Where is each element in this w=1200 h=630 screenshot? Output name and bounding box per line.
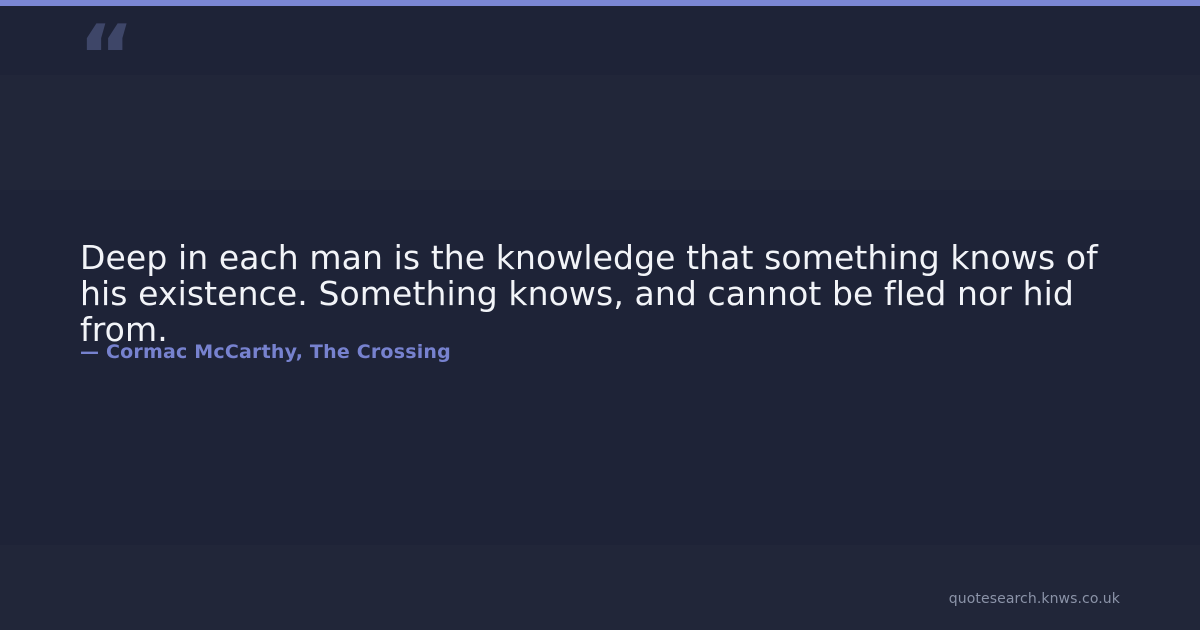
source-site-label: quotesearch.knws.co.uk [949, 590, 1120, 608]
top-accent-bar [0, 0, 1200, 6]
quote-attribution: — Cormac McCarthy, The Crossing [80, 339, 451, 365]
quote-text: Deep in each man is the knowledge that s… [80, 240, 1140, 348]
quotation-mark-icon: “ [78, 14, 133, 100]
background-band-upper [0, 75, 1200, 190]
quote-card: “ Deep in each man is the knowledge that… [0, 0, 1200, 630]
quote-body: Deep in each man is the knowledge that s… [80, 240, 1140, 348]
background-band-lower [0, 545, 1200, 630]
